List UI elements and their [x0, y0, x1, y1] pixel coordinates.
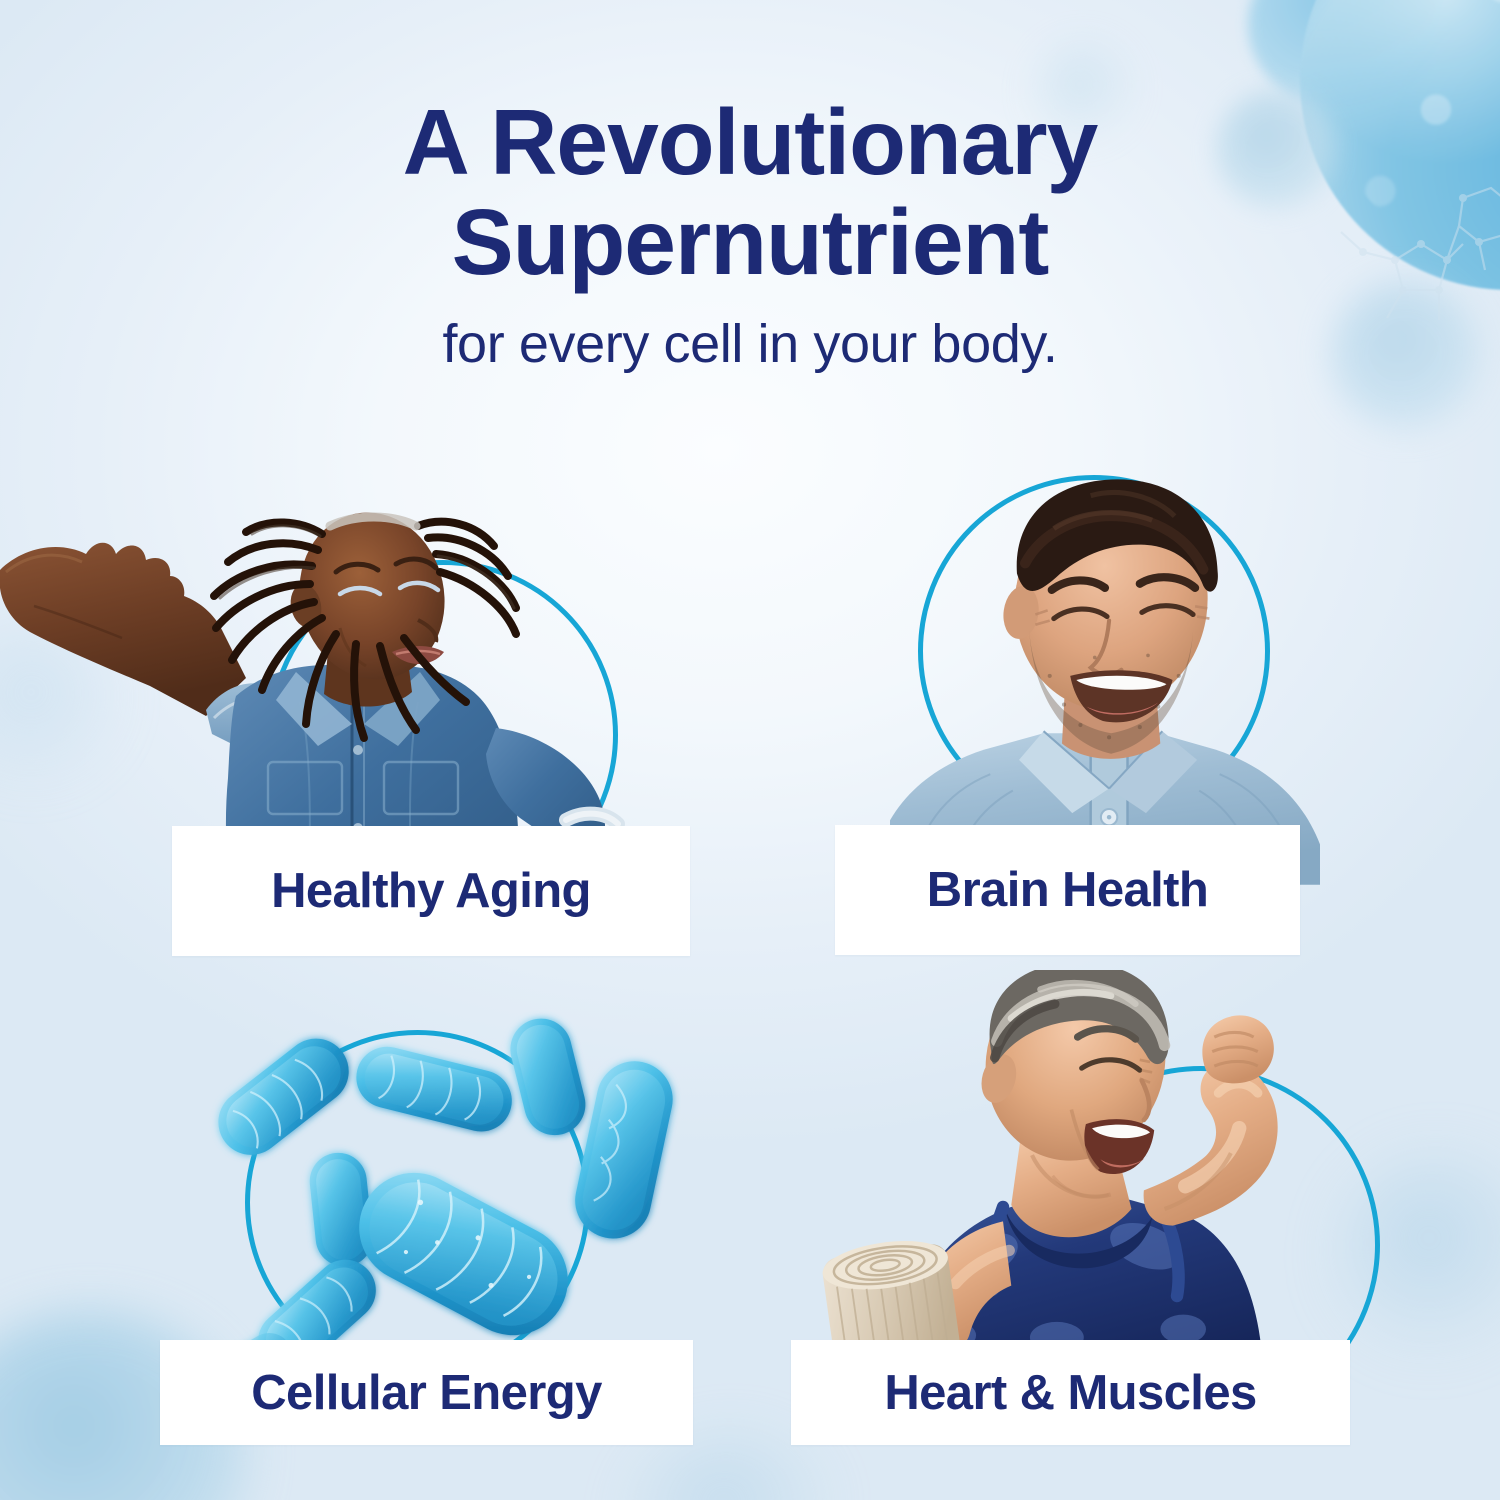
tile-label-brain-health: Brain Health	[927, 862, 1208, 918]
photo-cellular-energy	[195, 1005, 695, 1385]
label-card-heart-and-muscles[interactable]: Heart & Muscles	[791, 1340, 1350, 1445]
headline-line-1: A Revolutionary	[403, 90, 1098, 194]
page-title: A Revolutionary Supernutrient	[0, 92, 1500, 293]
promo-canvas: A Revolutionary Supernutrient for every …	[0, 0, 1500, 1500]
headline-line-2: Supernutrient	[0, 192, 1500, 292]
headline-block: A Revolutionary Supernutrient for every …	[0, 92, 1500, 375]
label-card-cellular-energy[interactable]: Cellular Energy	[160, 1340, 693, 1445]
page-subtitle: for every cell in your body.	[0, 313, 1500, 375]
tile-label-healthy-aging: Healthy Aging	[271, 863, 591, 919]
tile-label-cellular-energy: Cellular Energy	[251, 1365, 601, 1421]
tile-label-heart-and-muscles: Heart & Muscles	[884, 1365, 1256, 1421]
label-card-healthy-aging[interactable]: Healthy Aging	[172, 826, 690, 956]
photo-heart-and-muscles	[800, 970, 1380, 1390]
label-card-brain-health[interactable]: Brain Health	[835, 825, 1300, 955]
